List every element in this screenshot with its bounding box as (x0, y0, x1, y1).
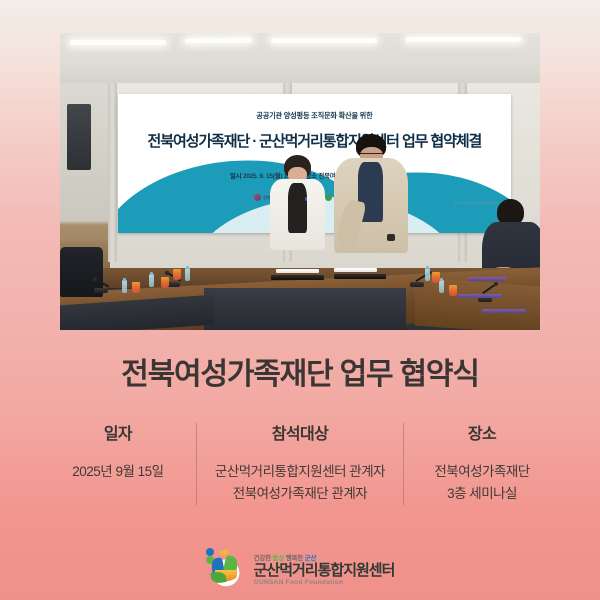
tagline-part-a: 건강한 (254, 555, 273, 562)
logo-name: 군산먹거리통합지원센터 (254, 563, 395, 579)
leaf-circle-icon (325, 194, 332, 201)
glasses-icon (360, 153, 383, 157)
event-details: 일자 2025년 9월 15일 참석대상 군산먹거리통합지원센터 관계자 전북여… (40, 420, 560, 505)
fruit-cup (432, 272, 440, 283)
tagline-part-c: 행복한 (284, 555, 305, 562)
table-right-wing (415, 278, 540, 330)
water-bottle (439, 280, 444, 293)
fruit-cup (173, 269, 181, 280)
banner-datetime-label: 일시 (230, 173, 241, 180)
person-woman-signing (269, 155, 327, 250)
water-bottle (122, 280, 127, 293)
detail-column-attendees: 참석대상 군산먹거리통합지원센터 관계자 전북여성가족재단 관계자 (197, 420, 403, 505)
detail-heading: 참석대상 (203, 420, 397, 444)
banner-line-2: 전북여성가족재단 · 군산먹거리통합지원센터 업무 협약체결 (118, 130, 512, 151)
signing-ceremony-photo: 공공기관 양성평등 조직문화 확산을 위한 전북여성가족재단 · 군산먹거리통합… (60, 33, 540, 330)
detail-heading: 장소 (410, 420, 554, 444)
logo-text-group: 건강한 밥상 행복한 군산 군산먹거리통합지원센터 GUNSAN Food Fo… (254, 552, 395, 587)
wall-speaker (67, 104, 91, 169)
desk-pad (468, 277, 506, 281)
gunsan-food-foundation-emblem-icon (206, 548, 246, 590)
ceiling-light (406, 37, 521, 42)
logo-english-name: GUNSAN Food Foundation (254, 579, 395, 586)
wall-column (108, 83, 117, 261)
photo-scene: 공공기관 양성평등 조직문화 확산을 위한 전북여성가족재단 · 군산먹거리통합… (60, 33, 540, 330)
fruit-cup (449, 285, 457, 296)
document-folder (271, 275, 324, 280)
detail-line: 3층 세미나실 (410, 483, 554, 505)
ceiling-light (185, 37, 252, 43)
page-title: 전북여성가족재단 업무 협약식 (0, 349, 600, 393)
water-bottle (149, 274, 154, 287)
water-bottle (185, 268, 190, 281)
wristwatch (387, 234, 395, 241)
inner-top (288, 183, 308, 232)
signing-document (276, 269, 319, 273)
detail-column-place: 장소 전북여성가족재단 3층 세미나실 (404, 420, 560, 505)
detail-line: 전북여성가족재단 관계자 (203, 483, 397, 505)
desk-pad (482, 309, 525, 313)
footer-logo: 건강한 밥상 행복한 군산 군산먹거리통합지원센터 GUNSAN Food Fo… (0, 548, 600, 590)
microphone-base (410, 282, 424, 287)
document-folder (334, 274, 387, 279)
person-man-signing (334, 134, 408, 253)
detail-line: 전북여성가족재단 (410, 461, 554, 483)
detail-body: 군산먹거리통합지원센터 관계자 전북여성가족재단 관계자 (203, 461, 397, 505)
microphone-base (94, 288, 108, 293)
tagline-part-b: 밥상 (273, 555, 285, 562)
desk-pad (458, 294, 501, 298)
detail-column-date: 일자 2025년 9월 15일 (40, 420, 196, 483)
signing-document (334, 268, 377, 272)
ceiling-light (271, 38, 377, 43)
fruit-cup (132, 282, 140, 293)
water-bottle (425, 268, 430, 281)
detail-line: 2025년 9월 15일 (46, 461, 190, 483)
detail-heading: 일자 (46, 420, 190, 444)
logo-tagline: 건강한 밥상 행복한 군산 (254, 552, 395, 562)
tagline-part-d: 군산 (305, 555, 317, 562)
ribbon-icon (254, 194, 261, 201)
table-front-panel (204, 288, 406, 330)
banner-line-1: 공공기관 양성평등 조직문화 확산을 위한 (118, 111, 512, 121)
ceiling-light (70, 40, 166, 45)
detail-body: 2025년 9월 15일 (46, 461, 190, 483)
event-card: 공공기관 양성평등 조직문화 확산을 위한 전북여성가족재단 · 군산먹거리통합… (0, 0, 600, 600)
fruit-cup (161, 277, 169, 288)
detail-line: 군산먹거리통합지원센터 관계자 (203, 461, 397, 483)
detail-body: 전북여성가족재단 3층 세미나실 (410, 461, 554, 505)
blue-figure-head (206, 548, 214, 556)
microphone-base (478, 297, 492, 302)
